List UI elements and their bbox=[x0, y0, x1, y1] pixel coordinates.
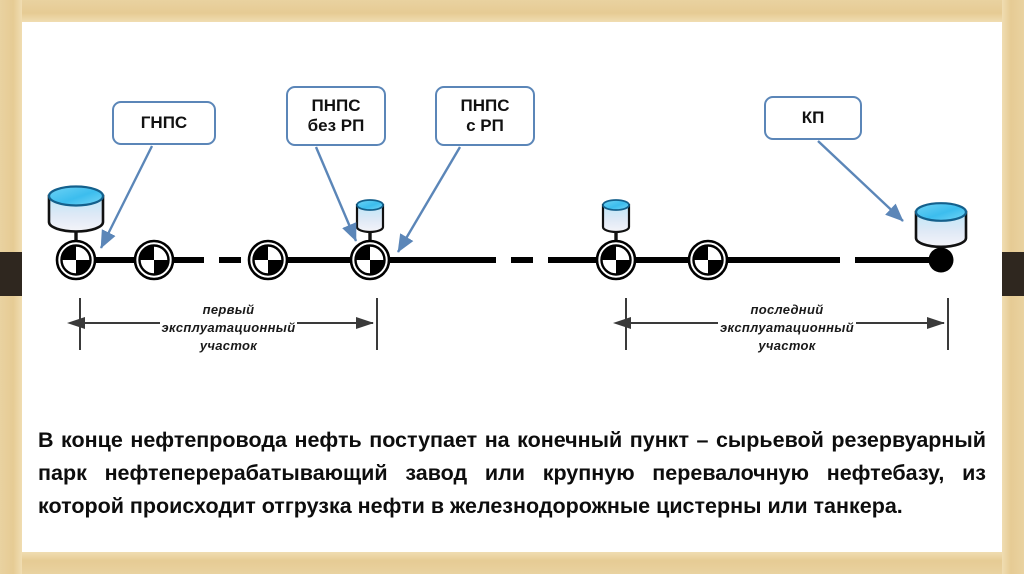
bracket-first-caption-line1: первый bbox=[80, 301, 377, 319]
callout-kp-label: КП bbox=[802, 108, 825, 128]
callout-gnps-label: ГНПС bbox=[141, 113, 187, 133]
bracket-last-caption-line3: участок bbox=[626, 337, 948, 355]
bracket-last-caption-line2: эксплуатационный bbox=[718, 319, 856, 337]
frame-bottom bbox=[0, 552, 1024, 574]
bracket-last-caption: последний эксплуатационный участок bbox=[626, 301, 948, 355]
slide-root: НПС на трассе магистрального нефтепровод… bbox=[0, 0, 1024, 574]
bracket-first-caption: первый эксплуатационный участок bbox=[80, 301, 377, 355]
callout-pnps-s-rp-label-line1: ПНПС bbox=[461, 96, 510, 116]
callout-kp[interactable]: КП bbox=[764, 96, 862, 140]
frame-top bbox=[0, 0, 1024, 22]
bracket-last-caption-line1: последний bbox=[626, 301, 948, 319]
frame-notch-right bbox=[1002, 252, 1024, 296]
bracket-first-caption-line2: эксплуатационный bbox=[160, 319, 298, 337]
callout-pnps-s-rp[interactable]: ПНПС с РП bbox=[435, 86, 535, 146]
bracket-first-caption-line3: участок bbox=[80, 337, 377, 355]
callout-pnps-bez-rp[interactable]: ПНПС без РП bbox=[286, 86, 386, 146]
body-paragraph: В конце нефтепровода нефть поступает на … bbox=[38, 424, 986, 523]
callout-gnps[interactable]: ГНПС bbox=[112, 101, 216, 145]
callout-pnps-bez-rp-label-line2: без РП bbox=[308, 116, 365, 136]
callout-pnps-bez-rp-label-line1: ПНПС bbox=[312, 96, 361, 116]
callout-pnps-s-rp-label-line2: с РП bbox=[466, 116, 504, 136]
frame-notch-left bbox=[0, 252, 22, 296]
